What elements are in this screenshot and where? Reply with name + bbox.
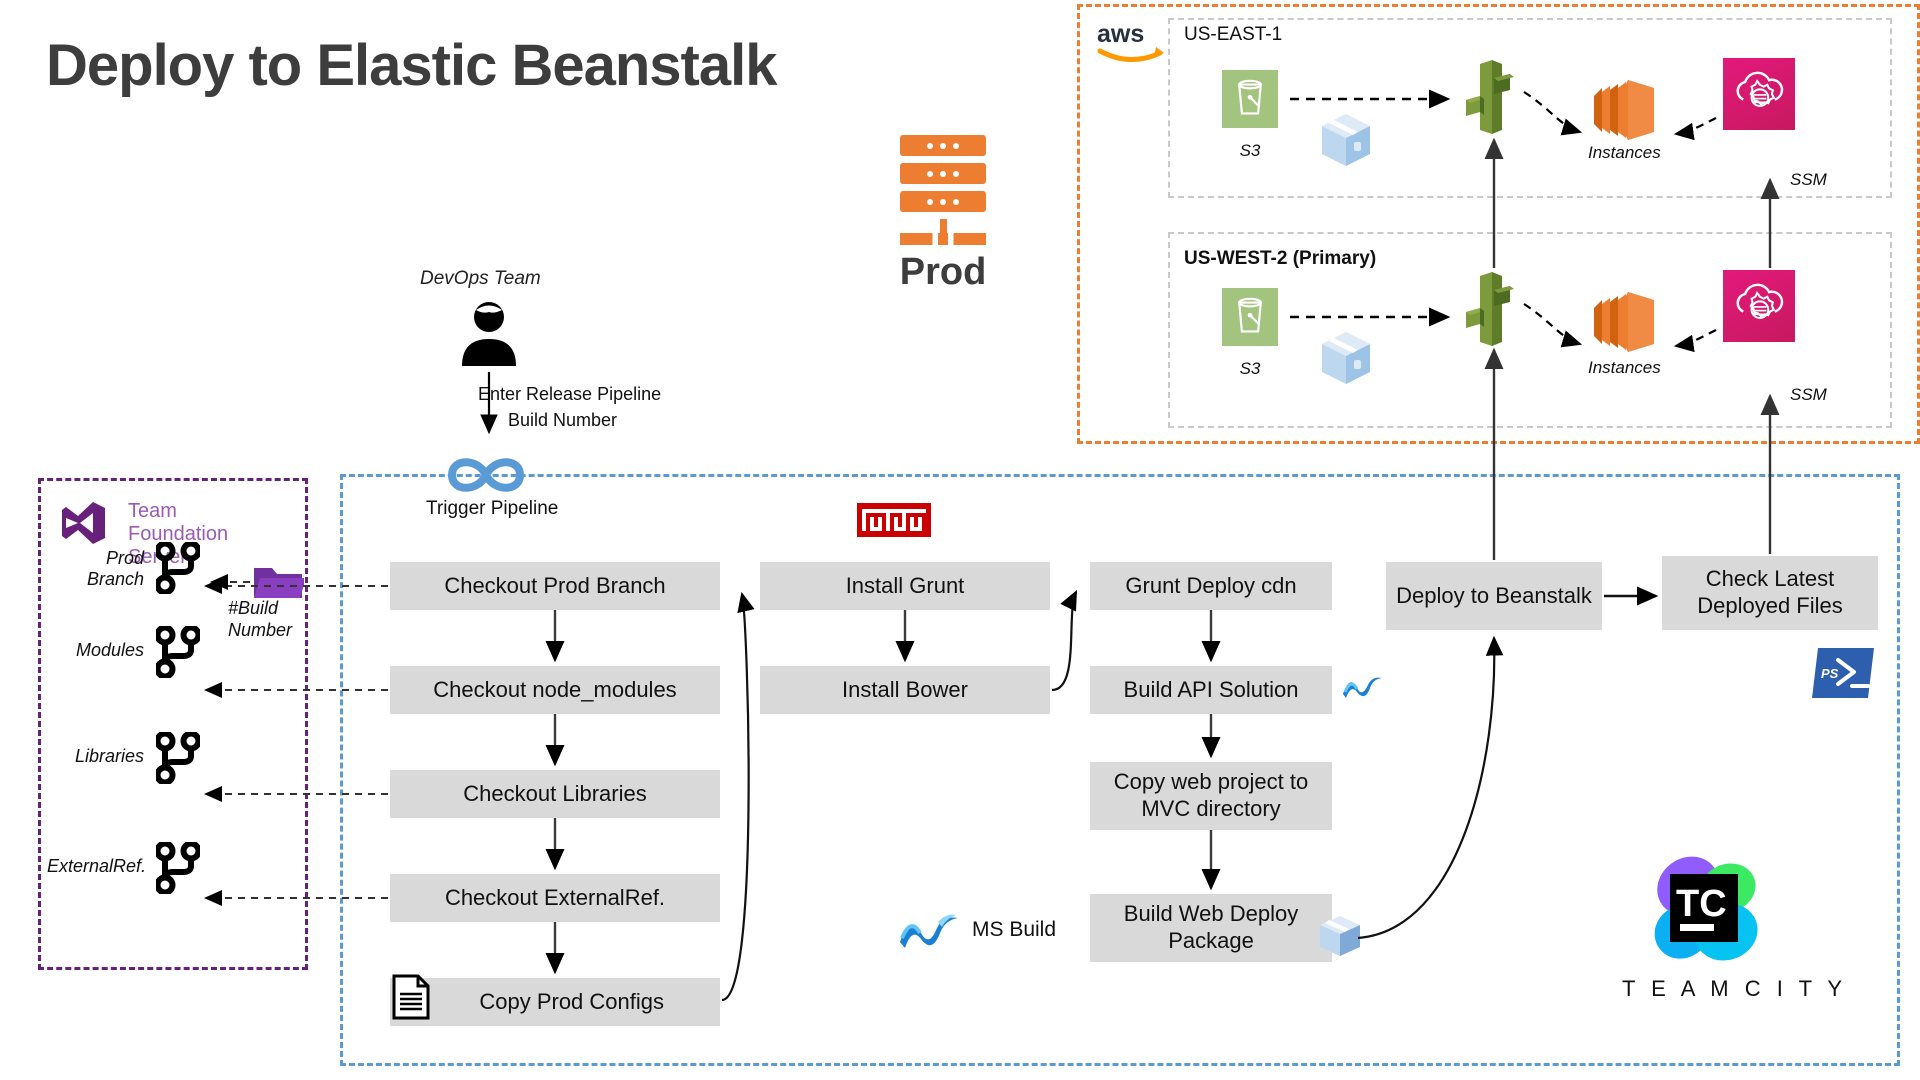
pipeline-step-install-grunt[interactable]: Install Grunt <box>760 562 1050 610</box>
tfs-item-label-libraries: Libraries <box>62 746 144 767</box>
person-icon <box>458 300 520 366</box>
folder-icon <box>252 562 304 602</box>
msbuild-label: MS Build <box>972 918 1056 942</box>
s3-bucket-icon <box>1222 288 1278 346</box>
infinity-icon <box>444 452 528 498</box>
git-branch-icon <box>156 542 200 599</box>
tfs-item-label-prod-branch: Prod Branch <box>78 548 144 589</box>
aws-region-us-west-2-title: US-WEST-2 (Primary) <box>1184 248 1376 270</box>
pipeline-step-checkout-node-modules[interactable]: Checkout node_modules <box>390 666 720 714</box>
pipeline-step-deploy-to-beanstalk[interactable]: Deploy to Beanstalk <box>1386 562 1602 630</box>
powershell-icon: PS <box>1812 648 1874 698</box>
ssm-caption-east: SSM <box>1790 170 1827 190</box>
page-title: Deploy to Elastic Beanstalk <box>46 32 776 99</box>
instances-caption-east: Instances <box>1588 143 1661 163</box>
npm-logo <box>857 503 931 537</box>
pipeline-step-check-latest-deployed-files[interactable]: Check Latest Deployed Files <box>1662 556 1878 630</box>
s3-bucket-icon <box>1222 70 1278 128</box>
pipeline-step-build-web-deploy-package[interactable]: Build Web Deploy Package <box>1090 894 1332 962</box>
ec2-instances-icon <box>1592 290 1664 359</box>
document-icon <box>392 974 430 1020</box>
svg-text:aws: aws <box>1097 20 1144 48</box>
dotnet-swoosh-icon <box>1342 672 1384 702</box>
s3-caption-west: S3 <box>1222 359 1278 379</box>
server-stack-icon <box>878 135 1008 245</box>
build-number-label: #BuildNumber <box>228 598 338 641</box>
pipeline-step-checkout-externalref[interactable]: Checkout ExternalRef. <box>390 874 720 922</box>
tfs-item-label-modules: Modules <box>62 640 144 661</box>
ssm-cloud-gear-icon <box>1723 270 1795 342</box>
elastic-beanstalk-icon <box>1458 60 1518 143</box>
s3-caption-east: S3 <box>1222 141 1278 161</box>
devops-team-label: DevOps Team <box>420 268 541 290</box>
pipeline-step-copy-web-project[interactable]: Copy web project to MVC directory <box>1090 762 1332 830</box>
prod-label: Prod <box>878 251 1008 294</box>
pipeline-step-build-api-solution[interactable]: Build API Solution <box>1090 666 1332 714</box>
teamcity-logo: TC <box>1642 846 1766 970</box>
dotnet-swoosh-icon <box>898 908 960 952</box>
pipeline-step-checkout-prod-branch[interactable]: Checkout Prod Branch <box>390 562 720 610</box>
git-branch-icon <box>156 626 200 683</box>
diagram-canvas: Deploy to Elastic Beanstalk Prod DevOps … <box>0 0 1920 1080</box>
tfs-title: Team Foundation Server <box>128 500 278 569</box>
pipeline-step-grunt-deploy-cdn[interactable]: Grunt Deploy cdn <box>1090 562 1332 610</box>
tfs-item-label-externalref: ExternalRef. <box>46 856 146 877</box>
package-box-icon <box>1320 330 1372 391</box>
visual-studio-logo <box>60 500 106 546</box>
git-branch-icon <box>156 732 200 789</box>
instances-caption-west: Instances <box>1588 358 1661 378</box>
enter-release-pipeline-label-line2: Build Number <box>508 410 617 431</box>
aws-logo: aws <box>1096 18 1170 64</box>
pipeline-step-copy-prod-configs[interactable]: Copy Prod Configs <box>390 978 720 1026</box>
ssm-caption-west: SSM <box>1790 385 1827 405</box>
trigger-pipeline-label: Trigger Pipeline <box>426 498 558 520</box>
package-box-icon <box>1318 914 1362 958</box>
enter-release-pipeline-label-line1: Enter Release Pipeline <box>478 384 661 405</box>
elastic-beanstalk-icon <box>1458 272 1518 355</box>
svg-text:TC: TC <box>1676 883 1727 925</box>
pipeline-step-install-bower[interactable]: Install Bower <box>760 666 1050 714</box>
pipeline-step-checkout-libraries[interactable]: Checkout Libraries <box>390 770 720 818</box>
svg-text:PS: PS <box>1821 666 1839 681</box>
ssm-cloud-gear-icon <box>1723 58 1795 130</box>
aws-region-us-east-1-title: US-EAST-1 <box>1184 24 1282 46</box>
git-branch-icon <box>156 842 200 899</box>
ec2-instances-icon <box>1592 78 1664 147</box>
package-box-icon <box>1320 112 1372 173</box>
teamcity-label: T E A M C I T Y <box>1622 976 1847 1002</box>
prod-environment-group: Prod <box>878 135 1008 294</box>
